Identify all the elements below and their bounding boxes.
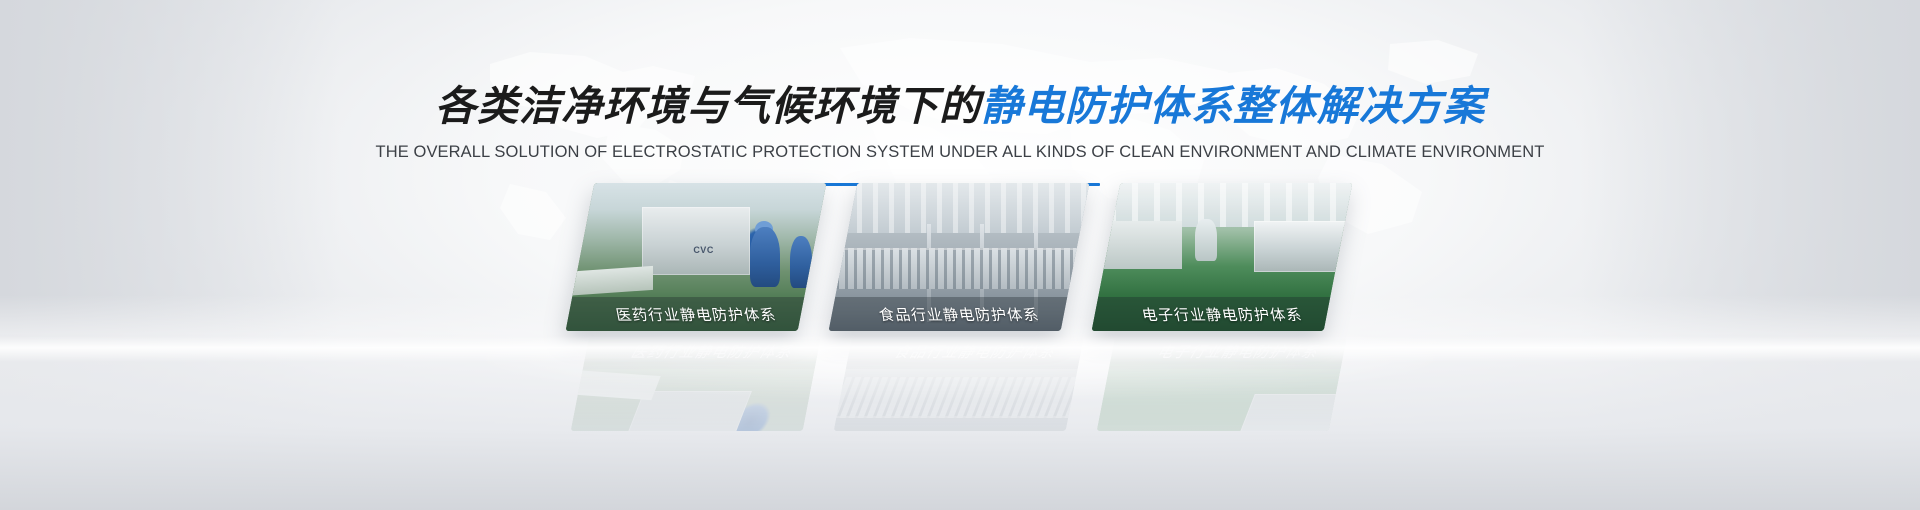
reflection-label: 食品行业静电防护体系 <box>890 342 1062 363</box>
card-label: 医药行业静电防护体系 <box>614 304 778 325</box>
card-reflection-electronics: 电子行业静电防护体系 <box>1097 335 1348 431</box>
reflection-caption: 医药行业静电防护体系 <box>572 335 821 369</box>
reflection-photo <box>571 335 822 431</box>
page-title: 各类洁净环境与气候环境下的静电防护体系整体解决方案 <box>0 72 1920 132</box>
reflection-label: 电子行业静电防护体系 <box>1153 342 1325 363</box>
reflection-caption: 电子行业静电防护体系 <box>1098 335 1347 369</box>
card-label: 电子行业静电防护体系 <box>1140 304 1304 325</box>
card-label: 食品行业静电防护体系 <box>877 304 1041 325</box>
card-reflection-pharmaceutical: 医药行业静电防护体系 <box>571 335 822 431</box>
industry-card-electronics[interactable]: SMT 电子行业静电防护体系 <box>1092 183 1353 331</box>
reflection-label: 医药行业静电防护体系 <box>627 342 799 363</box>
card-caption: 食品行业静电防护体系 <box>829 297 1090 331</box>
industry-card-group: CVC 医药行业静电防护体系 食品行业 <box>580 183 1340 383</box>
card-caption: 电子行业静电防护体系 <box>1092 297 1353 331</box>
card-reflection-food: 食品行业静电防护体系 <box>834 335 1085 431</box>
machine-label: SMT <box>1312 254 1329 263</box>
headline-dark-part: 各类洁净环境与气候环境下的 <box>435 82 981 130</box>
worker-figure <box>1195 219 1217 261</box>
headline-blue-part: 静电防护体系整体解决方案 <box>981 82 1485 130</box>
industry-card-food[interactable]: 食品行业静电防护体系 <box>829 183 1090 331</box>
reflection-photo <box>834 335 1085 431</box>
equipment-box <box>844 251 884 287</box>
reflection-photo <box>1097 335 1348 431</box>
card-caption: 医药行业静电防护体系 <box>566 297 827 331</box>
hero-banner: 各类洁净环境与气候环境下的静电防护体系整体解决方案 THE OVERALL SO… <box>0 0 1920 510</box>
smt-machine <box>1101 221 1181 268</box>
worker-figure <box>790 236 812 288</box>
machine-label: CVC <box>693 245 714 255</box>
industry-card-pharmaceutical[interactable]: CVC 医药行业静电防护体系 <box>566 183 827 331</box>
reflection-caption: 食品行业静电防护体系 <box>835 335 1084 369</box>
page-subtitle: THE OVERALL SOLUTION OF ELECTROSTATIC PR… <box>0 143 1920 162</box>
worker-figure <box>750 227 780 287</box>
